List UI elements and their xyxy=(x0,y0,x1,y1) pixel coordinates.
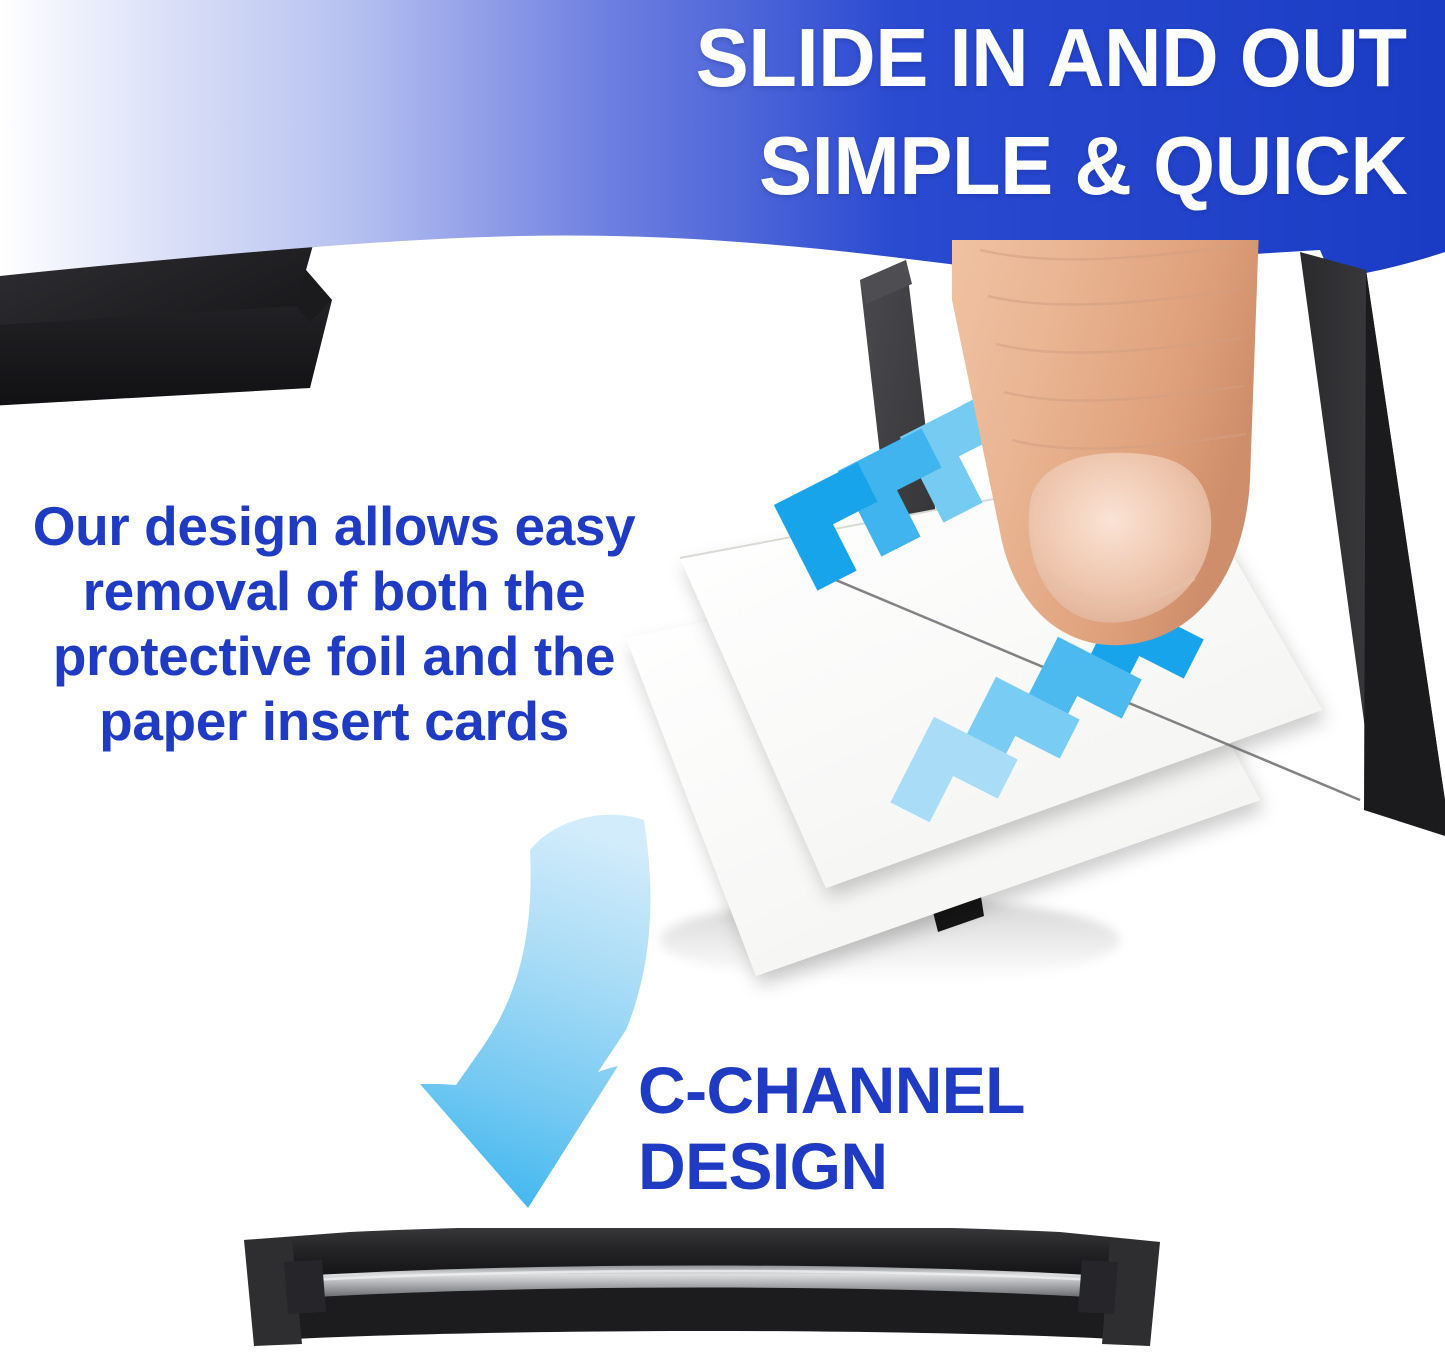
c-channel-profile-image xyxy=(230,1228,1170,1356)
headline-line-2: SIMPLE & QUICK xyxy=(759,120,1407,212)
headline-line-1: SLIDE IN AND OUT xyxy=(696,12,1407,104)
product-infographic: SLIDE IN AND OUT SIMPLE & QUICK xyxy=(0,0,1445,1356)
c-channel-caption: C-CHANNEL DESIGN xyxy=(638,1052,1198,1204)
caption-line-1: C-CHANNEL xyxy=(638,1052,1198,1128)
body-paragraph: Our design allows easy removal of both t… xyxy=(14,494,654,754)
caption-line-2: DESIGN xyxy=(638,1128,1198,1204)
arrow-shape xyxy=(420,815,650,1208)
